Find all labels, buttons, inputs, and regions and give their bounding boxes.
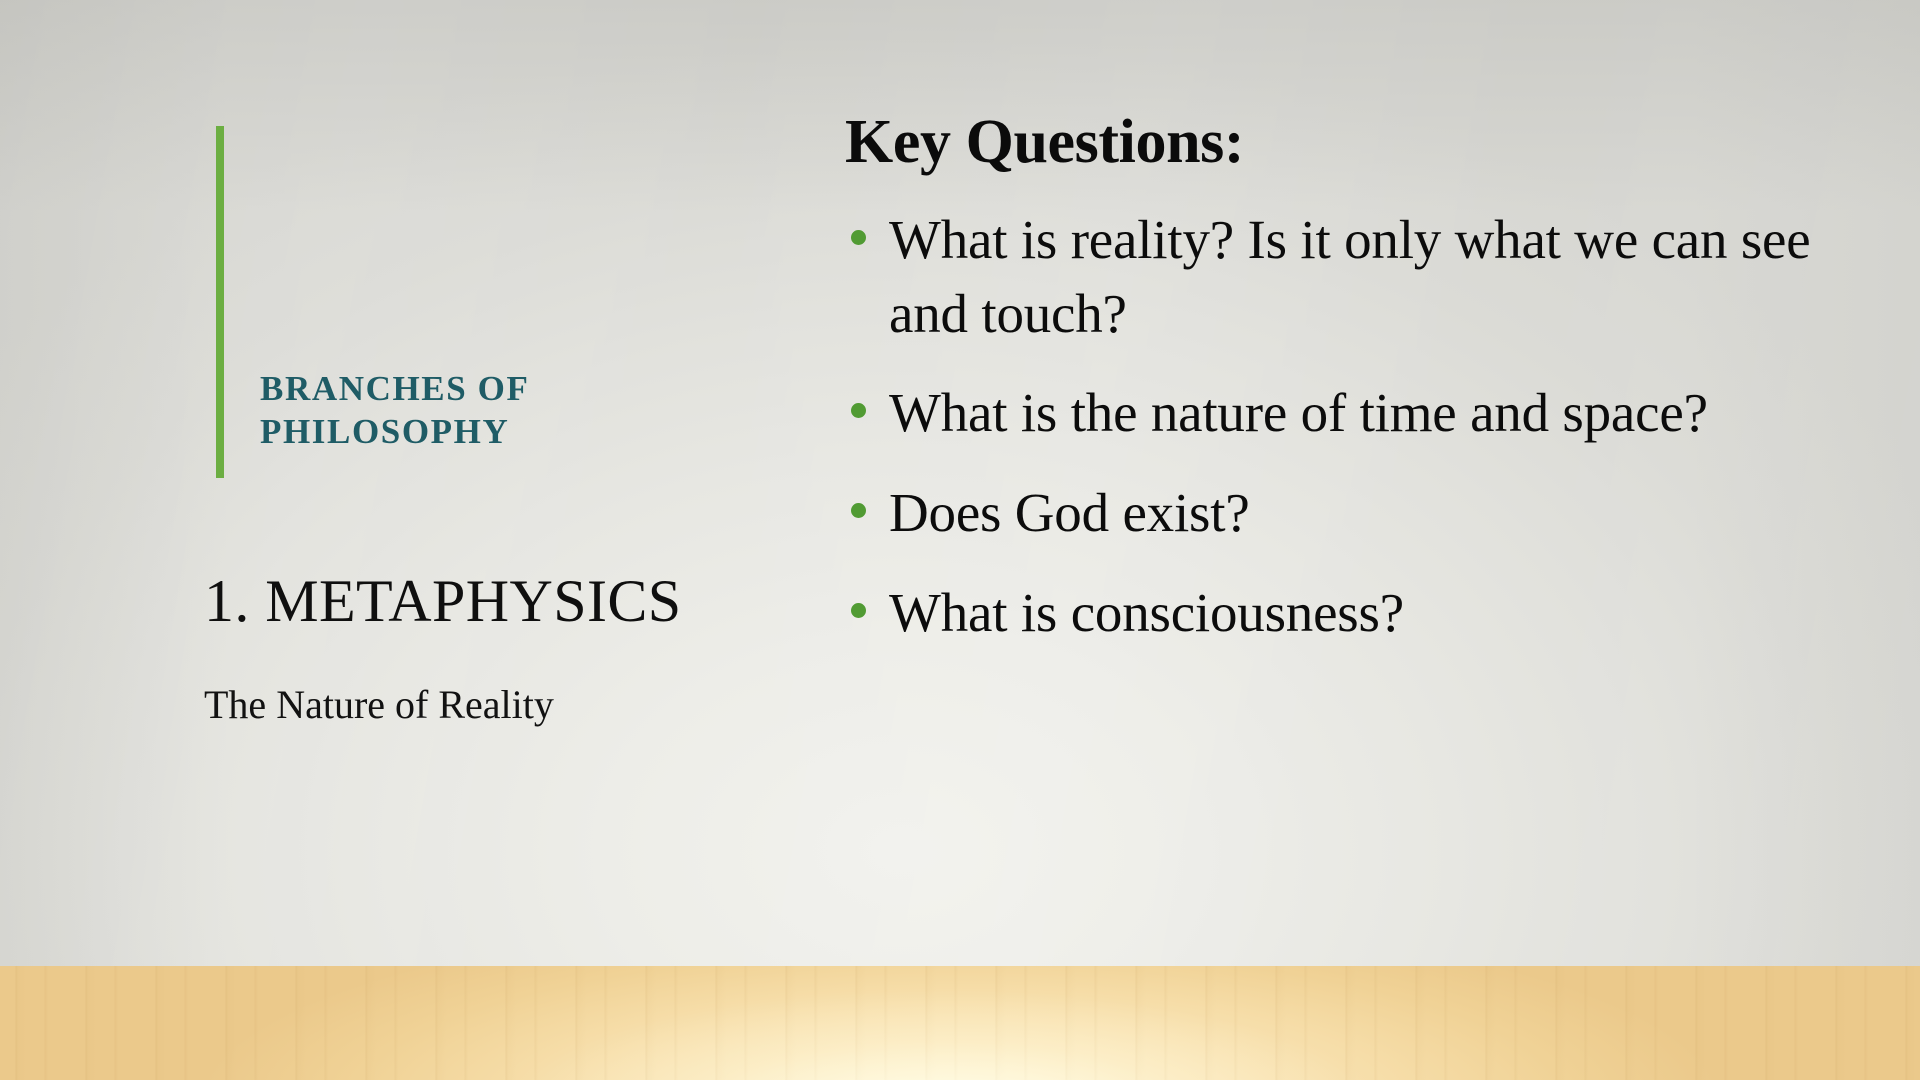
bullet-dot-icon	[851, 603, 866, 618]
bullet-dot-icon	[851, 403, 866, 418]
slide-subtitle: The Nature of Reality	[204, 682, 814, 728]
list-item: What is reality? Is it only what we can …	[845, 203, 1875, 350]
left-column: Branches of Philosophy 1. METAPHYSICS Th…	[196, 120, 816, 760]
slide-title: 1. METAPHYSICS	[204, 568, 814, 634]
list-item: What is consciousness?	[845, 576, 1875, 650]
bullet-dot-icon	[851, 503, 866, 518]
question-text: What is reality? Is it only what we can …	[889, 209, 1811, 344]
bullet-dot-icon	[851, 230, 866, 245]
question-text: What is consciousness?	[889, 582, 1404, 643]
question-text: What is the nature of time and space?	[889, 382, 1708, 443]
list-item: Does God exist?	[845, 476, 1875, 550]
question-text: Does God exist?	[889, 482, 1250, 543]
key-questions-heading: Key Questions:	[845, 110, 1875, 175]
presentation-slide: Branches of Philosophy 1. METAPHYSICS Th…	[0, 0, 1920, 1080]
list-item: What is the nature of time and space?	[845, 376, 1875, 450]
section-eyebrow-label: Branches of Philosophy	[260, 368, 680, 453]
key-questions-list: What is reality? Is it only what we can …	[845, 203, 1875, 649]
slide-content: Branches of Philosophy 1. METAPHYSICS Th…	[0, 0, 1920, 1080]
vertical-accent-bar	[216, 126, 224, 478]
right-column: Key Questions: What is reality? Is it on…	[845, 110, 1875, 676]
